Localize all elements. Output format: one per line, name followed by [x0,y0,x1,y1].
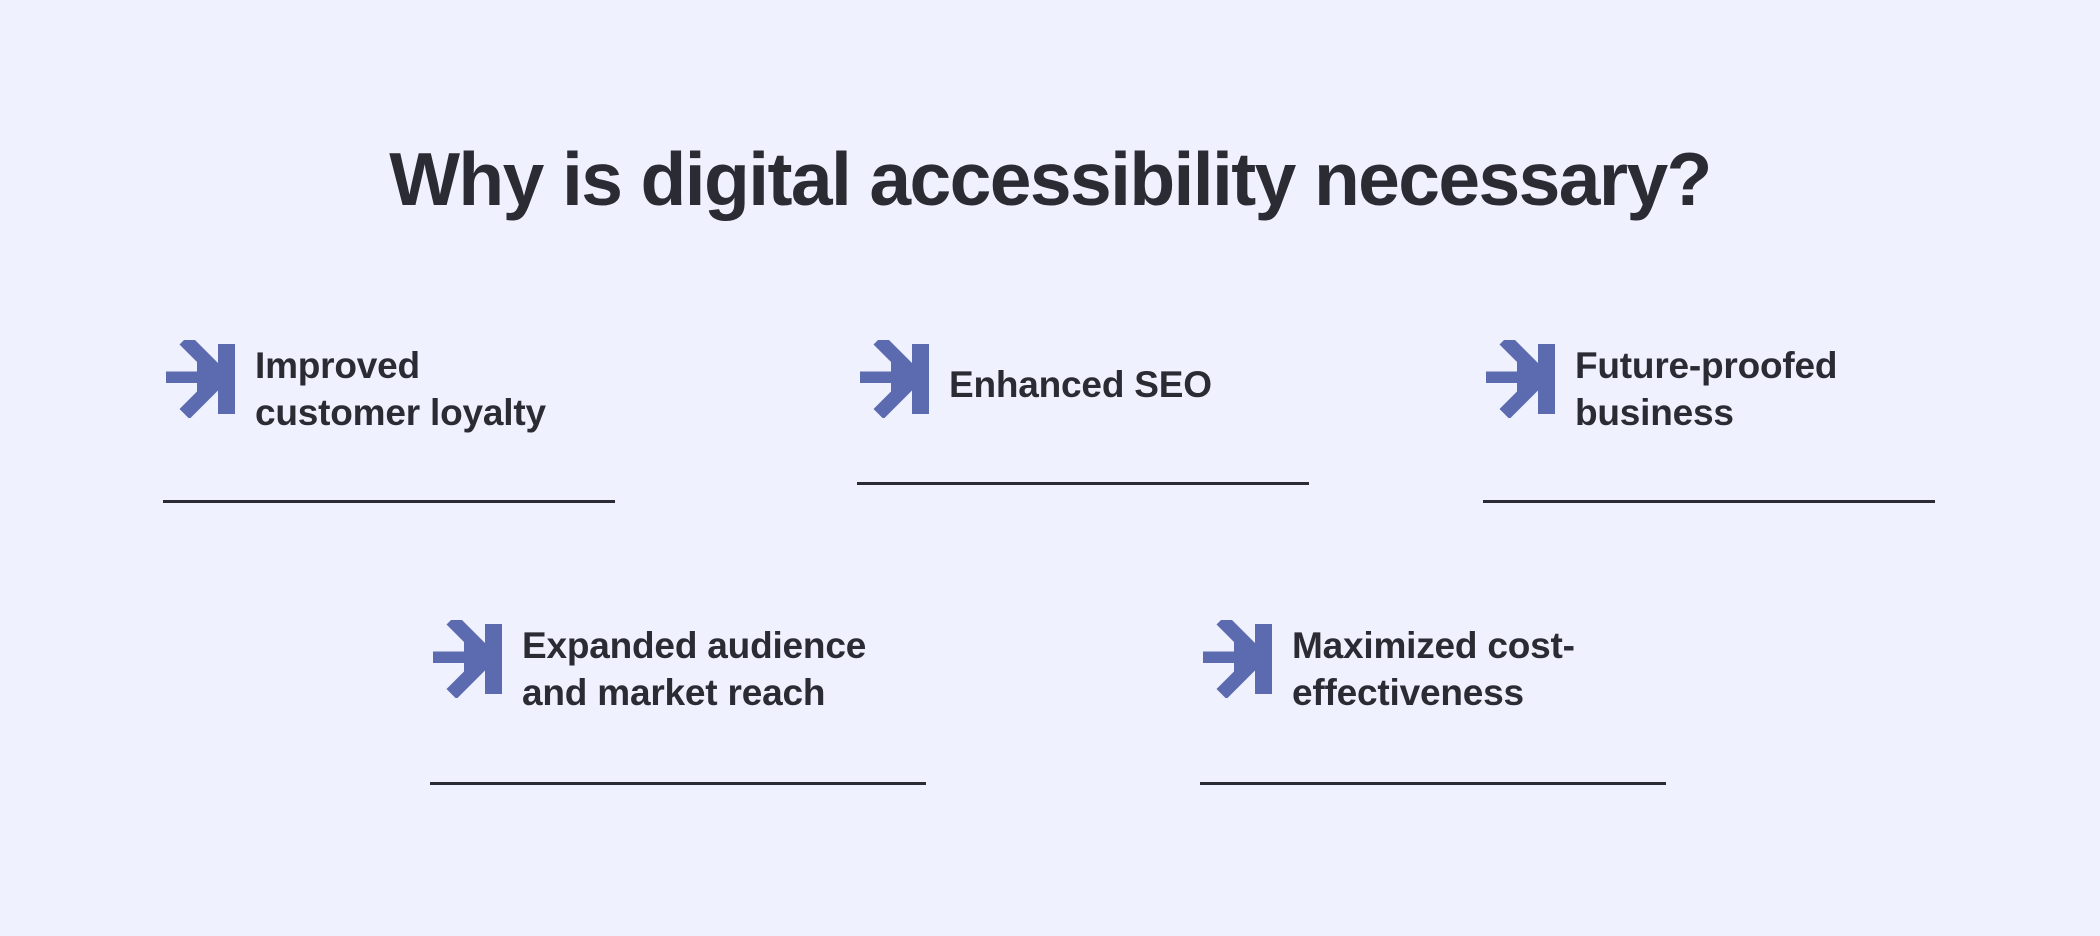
arrow-right-to-bar-icon [430,620,502,698]
benefit-content: Expanded audience and market reach [430,620,926,716]
benefit-divider [857,482,1309,485]
benefit-content: Future-proofed business [1483,340,1935,436]
benefit-item-improved-customer-loyalty: Improved customer loyalty [163,340,615,503]
benefit-label-line1: Improved [255,343,546,390]
arrow-right-to-bar-icon [1483,340,1555,418]
benefit-item-maximized-cost-effectiveness: Maximized cost- effectiveness [1200,620,1666,785]
benefit-label-line2: business [1575,390,1837,437]
arrow-right-to-bar-icon [857,340,929,418]
arrow-right-to-bar-icon [1200,620,1272,698]
benefit-item-enhanced-seo: Enhanced SEO [857,340,1309,485]
benefit-item-future-proofed-business: Future-proofed business [1483,340,1935,503]
benefit-divider [430,782,926,785]
benefit-label-line1: Expanded audience [522,623,866,670]
benefit-label-line2: effectiveness [1292,670,1575,717]
benefit-label: Expanded audience and market reach [522,620,866,716]
benefit-label-line2: customer loyalty [255,390,546,437]
benefit-label: Enhanced SEO [949,340,1212,409]
benefit-label: Future-proofed business [1575,340,1837,436]
benefit-label-line2: and market reach [522,670,866,717]
benefit-content: Maximized cost- effectiveness [1200,620,1666,716]
benefit-label-line1: Future-proofed [1575,343,1837,390]
page-title: Why is digital accessibility necessary? [0,138,2100,221]
benefit-content: Improved customer loyalty [163,340,615,436]
benefit-label: Maximized cost- effectiveness [1292,620,1575,716]
benefit-divider [1483,500,1935,503]
benefit-item-expanded-audience-and-market-reach: Expanded audience and market reach [430,620,926,785]
benefit-content: Enhanced SEO [857,340,1309,418]
benefit-label: Improved customer loyalty [255,340,546,436]
benefit-divider [163,500,615,503]
benefit-label-line1: Maximized cost- [1292,623,1575,670]
benefit-label-line1: Enhanced SEO [949,362,1212,409]
arrow-right-to-bar-icon [163,340,235,418]
benefit-divider [1200,782,1666,785]
infographic-canvas: Why is digital accessibility necessary? … [0,0,2100,936]
